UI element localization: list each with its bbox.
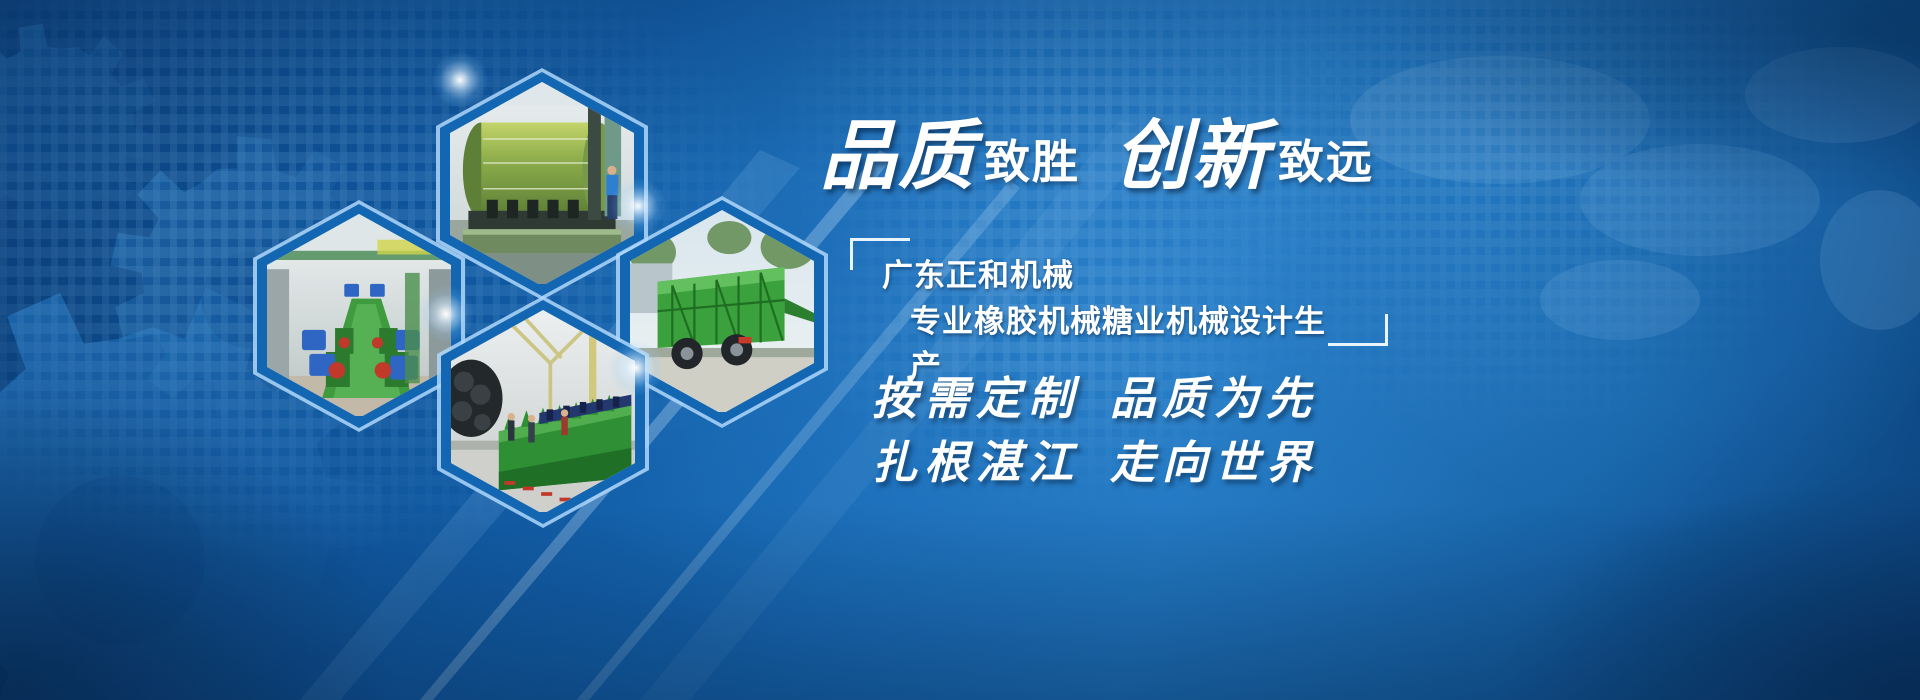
headline-phrase1-suffix: 致胜: [976, 136, 1080, 188]
slogan-line-2: 扎根湛江走向世界: [872, 426, 1318, 491]
headline-phrase1-emphasis: 品质: [820, 111, 976, 200]
slogan-1-left: 按需定制: [872, 372, 1080, 425]
slogan-1-right: 品质为先: [1110, 372, 1318, 425]
hexagon-photo-cluster: [0, 0, 900, 700]
bracket-top-left-horizontal: [850, 238, 910, 241]
slogan-2-left: 扎根湛江: [872, 436, 1080, 489]
hex-photo-production-line[interactable]: [253, 200, 465, 432]
hex-photo-sugar-conveyor[interactable]: [437, 296, 649, 528]
headline-phrase2-suffix: 致远: [1270, 136, 1374, 188]
banner-headline: 品质致胜创新致远: [820, 118, 1374, 194]
bracket-top-left-vertical: [850, 238, 853, 270]
headline-phrase2-emphasis: 创新: [1114, 111, 1270, 200]
slogan-line-1: 按需定制品质为先: [872, 362, 1318, 427]
banner-text-column: 品质致胜创新致远 广东正和机械 专业橡胶机械糖业机械设计生产 按需定制品质为先 …: [820, 0, 1920, 700]
bracket-bottom-right-vertical: [1385, 314, 1388, 346]
company-info-block: 广东正和机械 专业橡胶机械糖业机械设计生产: [850, 238, 1350, 346]
company-name: 广东正和机械: [882, 250, 1074, 295]
promo-banner: 品质致胜创新致远 广东正和机械 专业橡胶机械糖业机械设计生产 按需定制品质为先 …: [0, 0, 1920, 700]
slogan-2-right: 走向世界: [1110, 436, 1318, 489]
